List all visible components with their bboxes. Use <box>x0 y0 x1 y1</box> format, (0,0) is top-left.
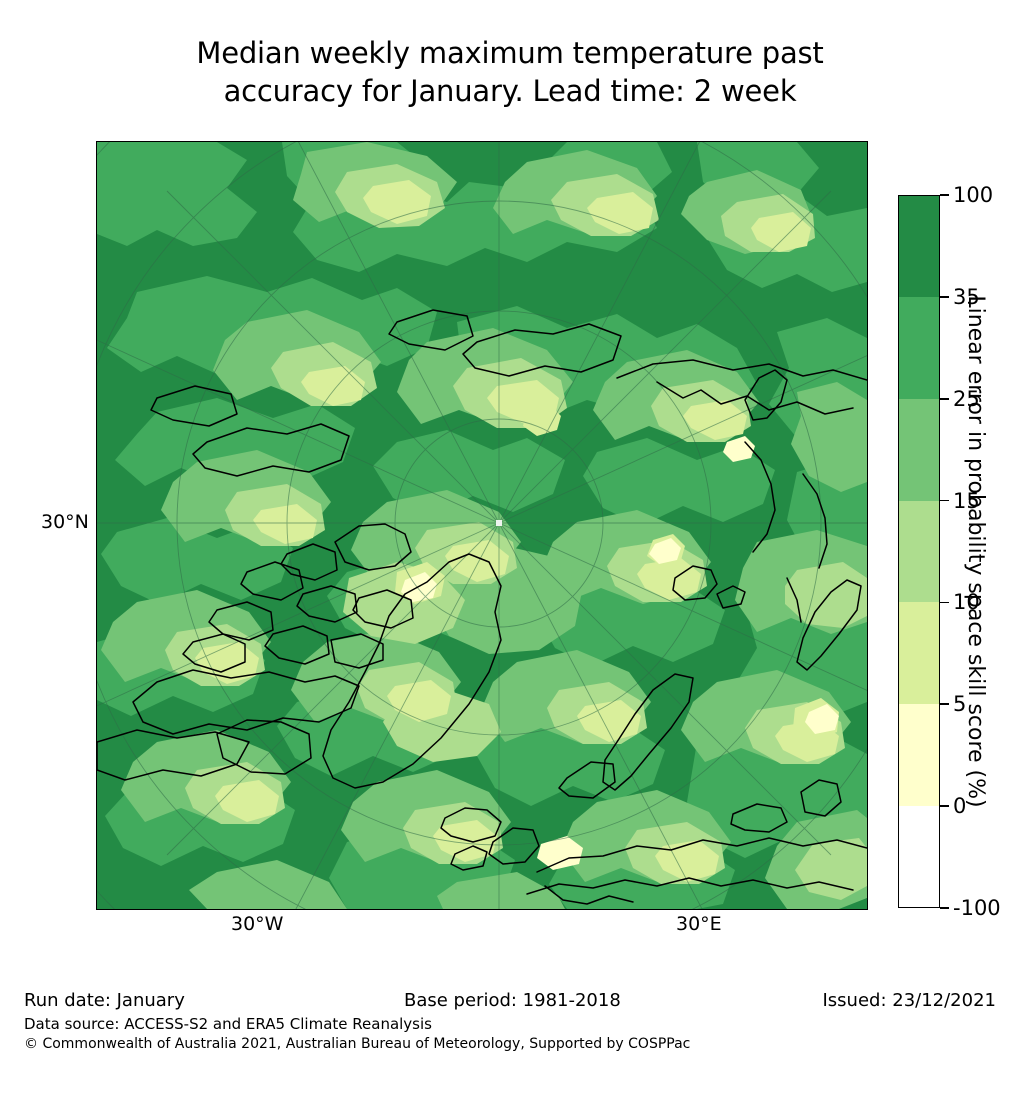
footer-data-source: Data source: ACCESS-S2 and ERA5 Climate … <box>24 1015 432 1033</box>
axis-tick-30n: 30°N <box>41 511 89 533</box>
footer-row-primary: Run date: January Base period: 1981-2018… <box>0 990 1020 1012</box>
colorbar-axis-title: Linear error in probability space skill … <box>955 195 997 908</box>
colorbar-tick-mark <box>940 703 949 705</box>
colorbar-tick-mark <box>940 500 949 502</box>
footer-run-date: Run date: January <box>24 990 185 1011</box>
axis-tick-30w: 30°W <box>231 913 283 935</box>
colorbar-tick-mark <box>940 194 949 196</box>
map-panel <box>96 141 868 910</box>
colorbar-tick-mark <box>940 398 949 400</box>
colorbar-tick-mark <box>940 907 949 909</box>
page-title: Median weekly maximum temperature past a… <box>0 34 1020 110</box>
footer-issued: Issued: 23/12/2021 <box>822 990 996 1011</box>
colorbar-tick-mark <box>940 602 949 604</box>
colorbar-tick-mark <box>940 296 949 298</box>
colorbar-tick-mark <box>940 805 949 807</box>
polar-map-svg <box>97 142 867 909</box>
pole-marker <box>496 520 502 526</box>
axis-tick-30e: 30°E <box>676 913 722 935</box>
figure-root: Median weekly maximum temperature past a… <box>0 0 1020 1095</box>
footer-copyright: © Commonwealth of Australia 2021, Austra… <box>24 1036 690 1052</box>
footer-base-period: Base period: 1981-2018 <box>404 990 621 1011</box>
